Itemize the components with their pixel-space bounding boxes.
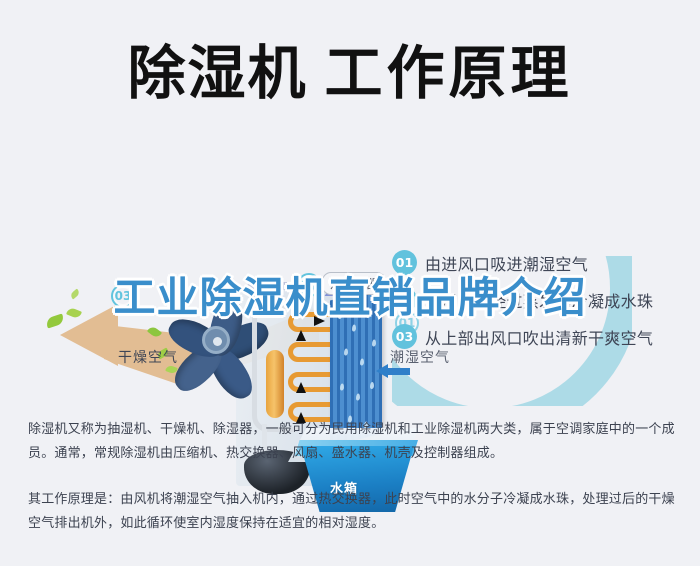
paragraph-1: 除湿机又称为抽湿机、干燥机、除湿器，一般可分为民用除湿机和工业除湿机两大类，属于… [28,418,676,466]
callout-label-dry-air: 干燥空气 [118,347,178,367]
refrigerant-cylinder [266,350,284,418]
callout-badge-03: 03 [111,284,135,308]
page-title: 除湿机 工作原理 [0,26,700,110]
page-title-part1: 除湿机 [127,39,307,107]
page-title-part2: 工作原理 [325,39,573,107]
step-number: 02 [392,287,417,312]
paragraph-2: 其工作原理是：由风机将潮湿空气抽入机内，通过热交换器，此时空气中的水分子冷凝成水… [28,488,676,536]
step-list: 01 由进风口吸进潮湿空气 02 潮湿空气经过蒸发器冷凝成水珠 03 从上部出风… [392,248,692,359]
step-number: 03 [392,324,417,349]
callout-label-heat-exchanger: 热交换器 [322,272,386,295]
callout-badge-02: 02 [297,273,321,297]
list-item: 01 由进风口吸进潮湿空气 [392,248,692,285]
step-text: 从上部出风口吹出清新干爽空气 [425,325,653,349]
step-text: 潮湿空气经过蒸发器冷凝成水珠 [425,288,653,312]
callout-pointer [348,300,358,316]
step-number: 01 [392,250,417,275]
step-text: 由进风口吸进潮湿空气 [425,251,588,275]
body-copy: 除湿机又称为抽湿机、干燥机、除湿器，一般可分为民用除湿机和工业除湿机两大类，属于… [28,418,676,536]
list-item: 02 潮湿空气经过蒸发器冷凝成水珠 [392,285,692,322]
infographic-page: 除湿机 工作原理 [0,0,700,566]
list-item: 03 从上部出风口吹出清新干爽空气 [392,322,692,359]
